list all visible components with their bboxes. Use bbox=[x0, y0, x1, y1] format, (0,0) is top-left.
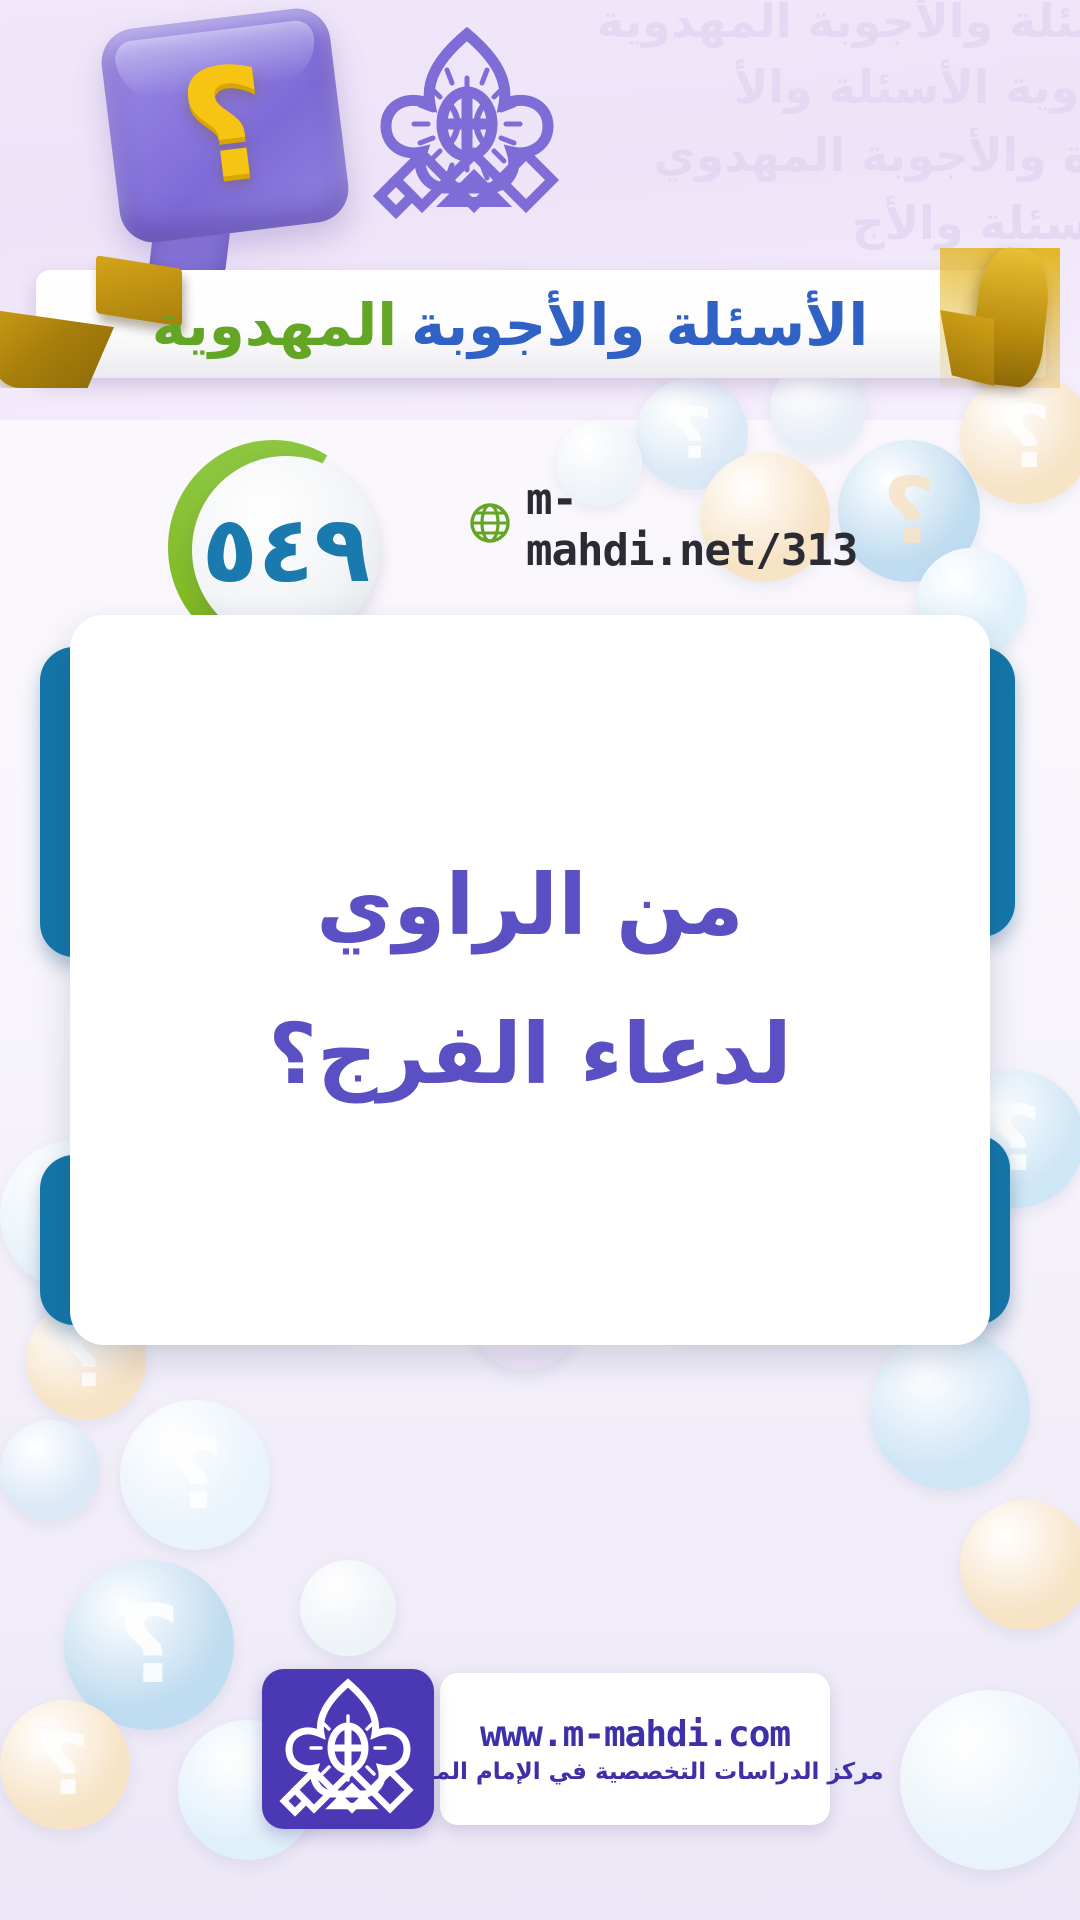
footer-plate: www.m-mahdi.com مركز الدراسات التخصصية ف… bbox=[440, 1673, 830, 1825]
page-title-primary: الأسئلة والأجوبة bbox=[411, 296, 868, 354]
page-title: الأسئلة والأجوبة المهدوية bbox=[60, 286, 960, 364]
question-line-2: لدعاء الفرج؟ bbox=[268, 1002, 791, 1107]
question-card: من الراوي لدعاء الفرج؟ bbox=[70, 615, 990, 1345]
footer-logo-icon bbox=[262, 1669, 434, 1829]
bubble-question-glyph: ؟ bbox=[1001, 388, 1051, 488]
bubble-question-glyph: ؟ bbox=[672, 393, 713, 475]
decorative-question-bubble: ؟ bbox=[120, 1400, 270, 1550]
decorative-question-bubble bbox=[300, 1560, 396, 1656]
badge-number: ٥٤٩ bbox=[202, 504, 370, 596]
poster-canvas: سئلة والأجوبة المهدوية المهدوية الأسئلة … bbox=[0, 0, 1080, 1920]
speech-bubble-icon: ؟ bbox=[98, 5, 352, 246]
title-ribbon: الأسئلة والأجوبة المهدوية bbox=[0, 252, 1080, 392]
source-link-text[interactable]: m-mahdi.net/313 bbox=[526, 474, 888, 576]
bubble-question-glyph: ؟ bbox=[167, 1419, 223, 1531]
globe-icon bbox=[468, 501, 512, 549]
mahdi-ornament-logo bbox=[352, 20, 582, 240]
source-link[interactable]: m-mahdi.net/313 bbox=[468, 495, 888, 555]
question-mark-glyph: ؟ bbox=[102, 37, 349, 214]
decorative-question-bubble bbox=[870, 1330, 1030, 1490]
question-line-1: من الراوي bbox=[316, 853, 743, 958]
bubble-question-glyph: ؟ bbox=[882, 458, 935, 565]
footer-website[interactable]: www.m-mahdi.com bbox=[480, 1714, 790, 1755]
question-card-zone: من الراوي لدعاء الفرج؟ bbox=[40, 665, 1040, 1305]
decorative-question-bubble bbox=[0, 1420, 100, 1520]
decorative-question-bubble bbox=[960, 1500, 1080, 1630]
page-title-secondary: المهدوية bbox=[152, 296, 397, 354]
footer: www.m-mahdi.com مركز الدراسات التخصصية ف… bbox=[0, 1655, 1080, 1845]
footer-center-name: مركز الدراسات التخصصية في الإمام المهدي bbox=[386, 1759, 883, 1785]
